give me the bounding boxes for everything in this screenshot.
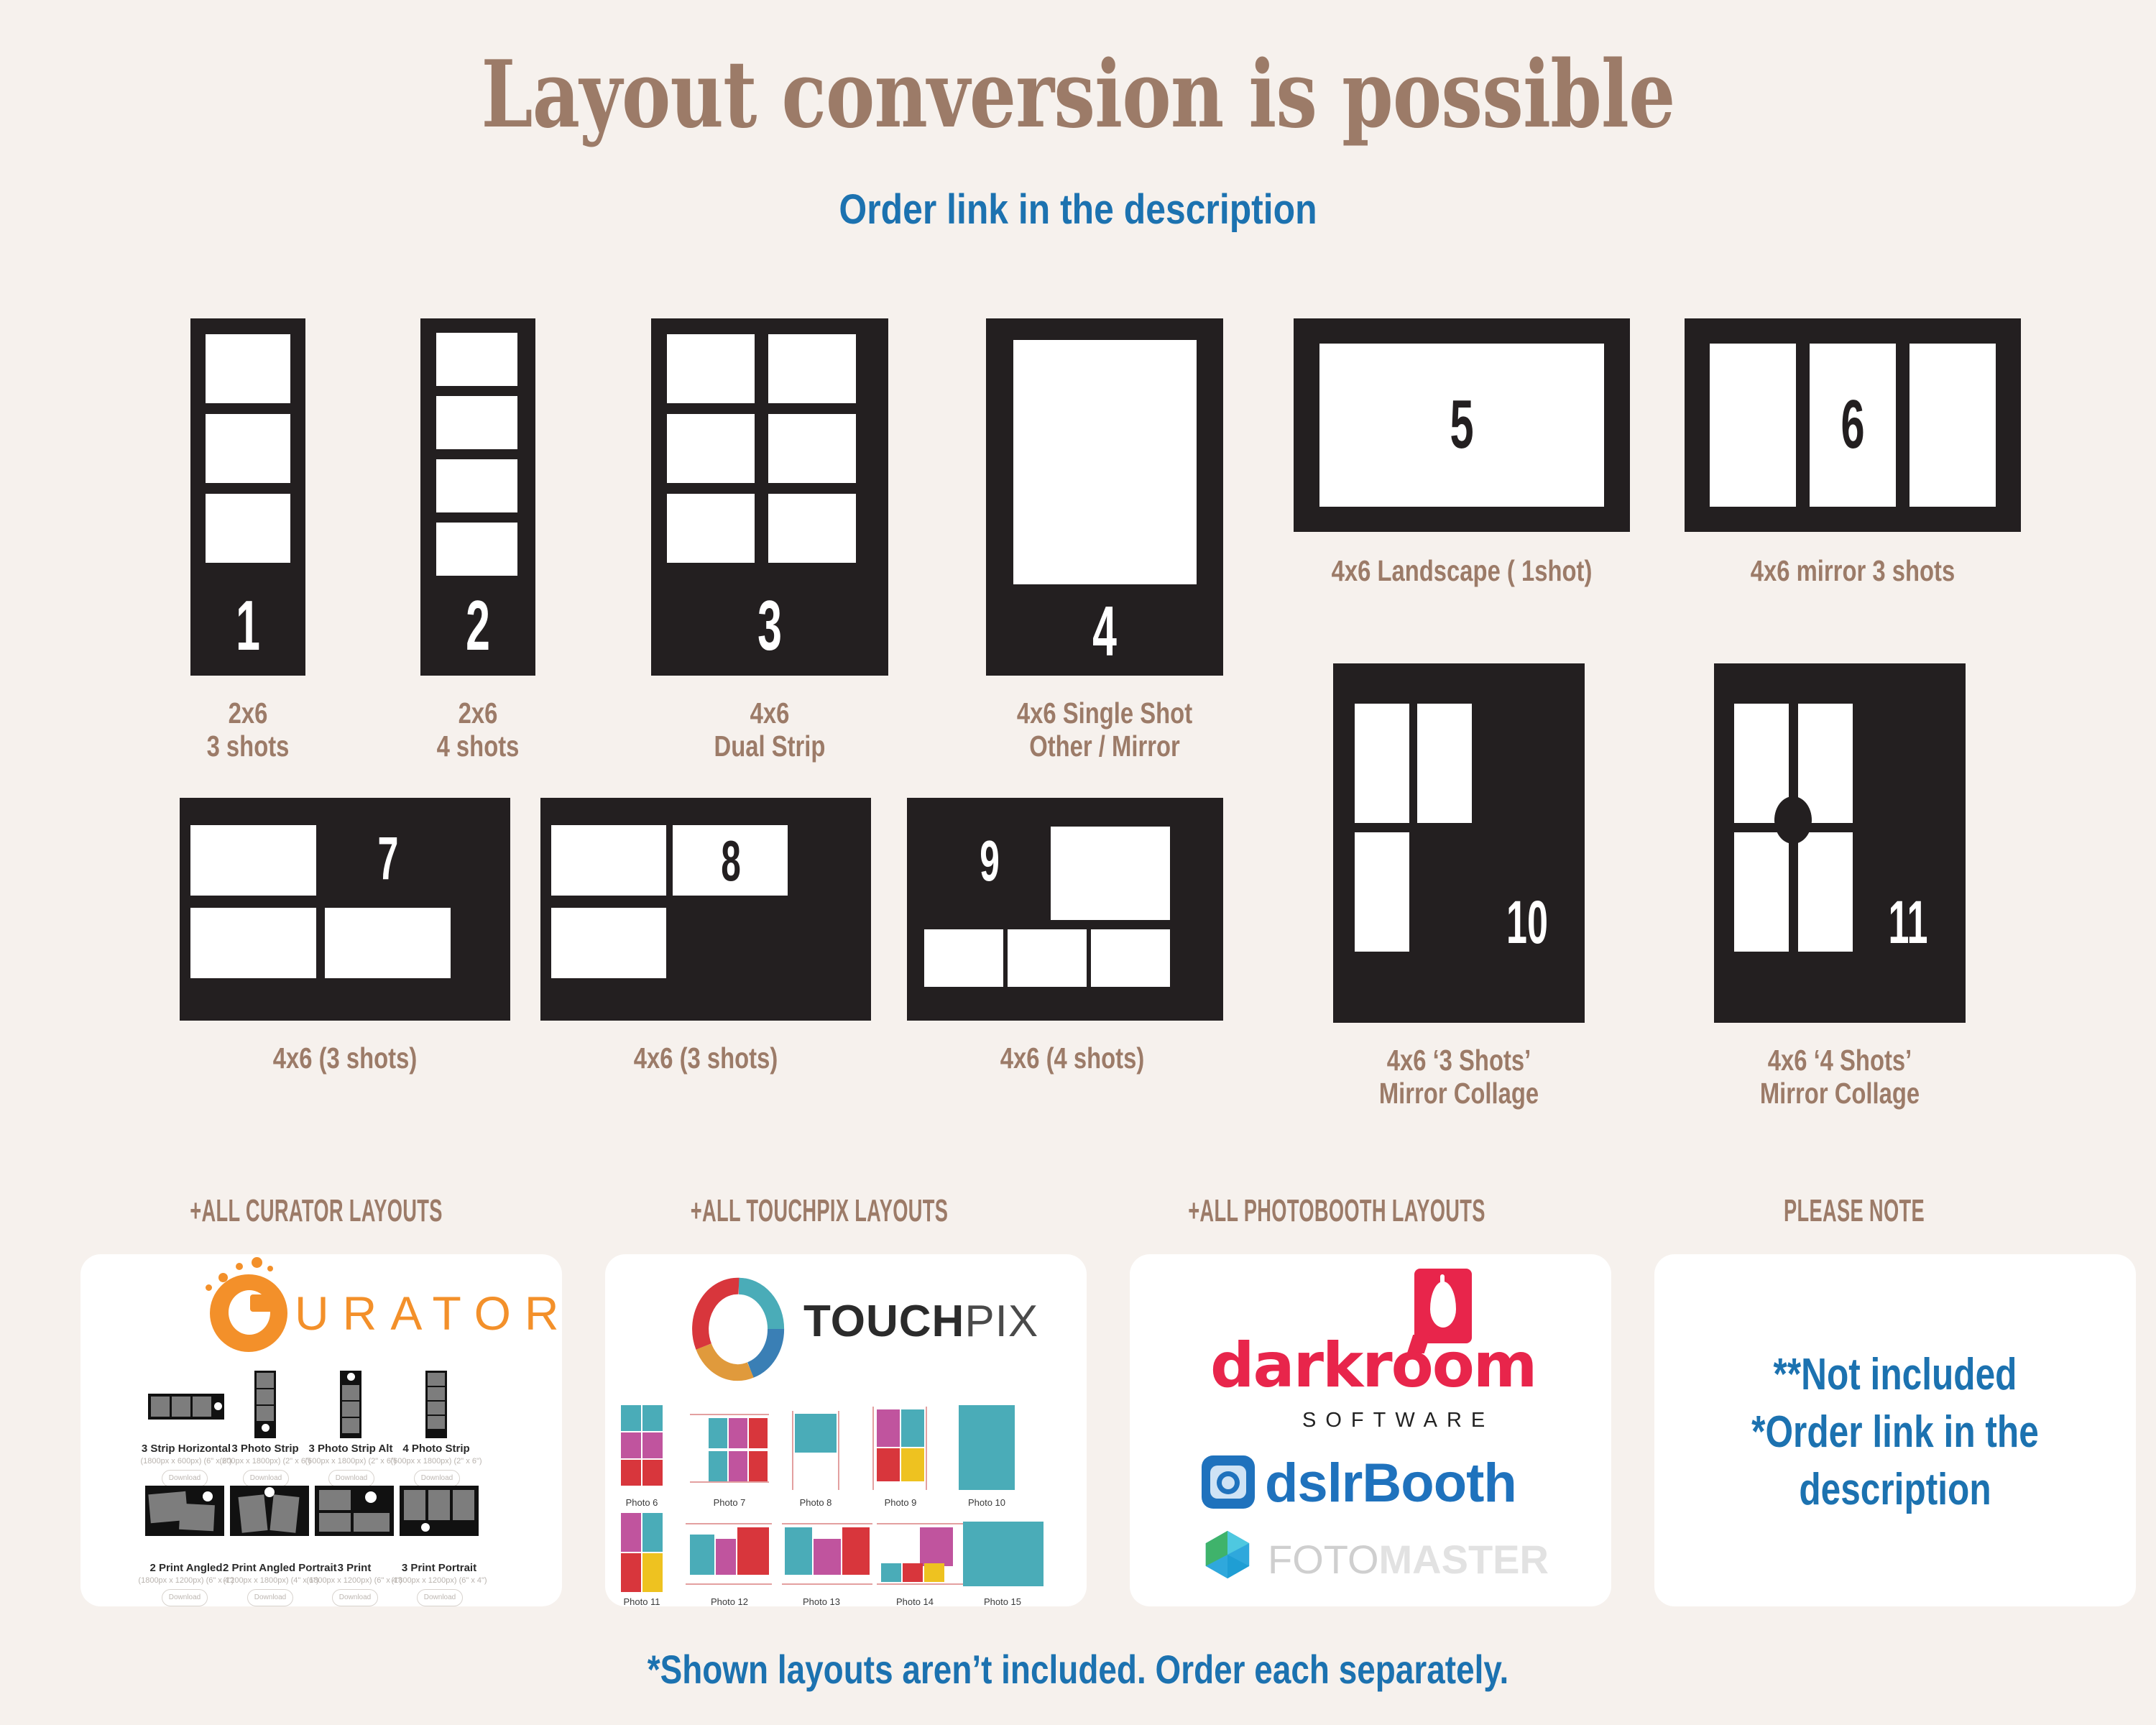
photo-cell: [436, 396, 517, 449]
curator-download-button[interactable]: Download: [332, 1589, 378, 1606]
photo-cell: [667, 494, 755, 563]
touchpix-thumb[interactable]: [872, 1407, 927, 1490]
photo-cell: [190, 825, 316, 896]
photo-cell: [768, 334, 856, 403]
template-number: 6: [1749, 390, 1957, 459]
photo-cell: [1013, 340, 1197, 584]
fotomaster-word-1: FOTO: [1268, 1537, 1379, 1582]
curator-thumb[interactable]: [230, 1486, 309, 1536]
curator-layout-row-1: 3 Strip Horizontal (1800px x 600px) (6" …: [142, 1368, 545, 1476]
curator-thumb-dim: (600px x 1800px) (2" x 6"): [303, 1457, 399, 1466]
touchpix-thumb-label: Photo 13: [789, 1596, 854, 1606]
touchpix-thumb[interactable]: [690, 1414, 769, 1483]
photo-cell: [768, 414, 856, 483]
curator-thumb-label: 4 Photo Strip: [388, 1443, 484, 1455]
curator-thumb[interactable]: [400, 1486, 479, 1536]
touchpix-thumb[interactable]: [959, 1405, 1015, 1490]
touchpix-thumb-label: Photo 11: [609, 1596, 674, 1606]
curator-thumb-dim: (1800px x 1200px) (6" x 4"): [306, 1576, 402, 1585]
template-number: 11: [1872, 892, 1943, 952]
touchpix-thumb[interactable]: [963, 1522, 1044, 1586]
touchpix-thumb[interactable]: [791, 1411, 841, 1490]
template-card-8[interactable]: 8: [540, 798, 871, 1021]
photo-cell: [1734, 832, 1789, 952]
template-card-4[interactable]: 4: [986, 318, 1223, 676]
touchpix-ring-icon: [690, 1274, 788, 1384]
darkroom-wordmark: darkroom: [1210, 1330, 1536, 1402]
curator-download-button[interactable]: Download: [417, 1589, 463, 1606]
photo-cell: [325, 908, 451, 978]
template-number: 1: [212, 590, 283, 661]
curator-download-button[interactable]: Download: [162, 1589, 208, 1606]
section-heading-touchpix: +ALL TOUCHPIX LAYOUTS: [623, 1193, 1015, 1229]
template-card-3[interactable]: 3: [651, 318, 888, 676]
curator-wordmark: URATOR: [295, 1286, 562, 1340]
touchpix-thumb-label: Photo 9: [868, 1497, 933, 1508]
template-caption-10: 4x6 ‘3 Shots’ Mirror Collage: [1344, 1044, 1574, 1110]
curator-thumb[interactable]: [315, 1486, 394, 1536]
curator-logo: URATOR: [210, 1271, 562, 1351]
photobooth-card[interactable]: darkroom SOFTWARE dslrBooth FOTOMASTER: [1130, 1254, 1611, 1606]
template-card-1[interactable]: 1: [190, 318, 305, 676]
touchpix-thumb[interactable]: [619, 1405, 664, 1490]
curator-thumb[interactable]: [145, 1486, 224, 1536]
curator-download-button[interactable]: Download: [247, 1589, 293, 1606]
center-oval-icon: [1774, 796, 1812, 844]
touchpix-thumb-label: Photo 7: [697, 1497, 762, 1508]
curator-thumb-label: 2 Print Angled: [138, 1562, 234, 1574]
template-number: 8: [706, 832, 755, 890]
section-heading-curator: +ALL CURATOR LAYOUTS: [120, 1193, 512, 1229]
touchpix-thumb-label: Photo 10: [954, 1497, 1019, 1508]
photo-cell: [206, 334, 290, 403]
touchpix-word-bold: TOUCH: [803, 1297, 964, 1346]
darkroom-tagline: SOFTWARE: [1302, 1409, 1494, 1432]
touchpix-thumb[interactable]: [877, 1519, 967, 1591]
fotomaster-wordmark: FOTOMASTER: [1268, 1536, 1549, 1583]
template-number: 10: [1491, 892, 1562, 952]
template-card-11[interactable]: 11: [1714, 663, 1966, 1023]
page-title: Layout conversion is possible: [216, 49, 1940, 141]
dslrbooth-word-1: dslr: [1265, 1453, 1362, 1514]
curator-thumb[interactable]: [340, 1371, 361, 1438]
touchpix-thumb[interactable]: [686, 1519, 772, 1591]
photo-cell: [924, 929, 1003, 987]
photo-cell: [436, 523, 517, 576]
template-number: 2: [442, 590, 513, 661]
curator-blob-icon: [210, 1274, 287, 1352]
curator-thumb-dim: (1800px x 1200px) (6" x 4"): [138, 1576, 234, 1585]
dslrbooth-camera-icon: [1202, 1455, 1255, 1509]
photo-cell: [1798, 832, 1853, 952]
touchpix-thumb-label: Photo 12: [697, 1596, 762, 1606]
touchpix-thumb[interactable]: [619, 1513, 664, 1592]
template-card-2[interactable]: 2: [420, 318, 535, 676]
curator-thumb-label: 2 Print Angled Portrait: [223, 1562, 319, 1574]
photo-cell: [667, 414, 755, 483]
touchpix-thumb-label: Photo 14: [883, 1596, 947, 1606]
template-caption-8: 4x6 (3 shots): [591, 1042, 821, 1075]
photo-cell: [551, 825, 666, 896]
note-line-3: description: [1703, 1461, 2088, 1518]
curator-thumb-label: 3 Print: [306, 1562, 402, 1574]
photo-cell: [206, 494, 290, 563]
template-number: 7: [361, 828, 415, 888]
template-caption-9: 4x6 (4 shots): [957, 1042, 1187, 1075]
curator-thumb[interactable]: [148, 1394, 224, 1420]
poster-canvas: Layout conversion is possible Order link…: [0, 0, 2156, 1725]
curator-thumb[interactable]: [425, 1371, 447, 1438]
fotomaster-word-2: MASTER: [1379, 1537, 1549, 1582]
template-card-6[interactable]: 6: [1685, 318, 2021, 532]
curator-thumb-label: 3 Print Portrait: [391, 1562, 487, 1574]
touchpix-thumb-label: Photo 15: [970, 1596, 1035, 1606]
photo-cell: [1355, 832, 1409, 952]
photo-cell: [1355, 704, 1409, 823]
template-number: 3: [696, 590, 844, 661]
photo-cell: [551, 908, 666, 978]
dslrbooth-wordmark: dslrBooth: [1265, 1452, 1516, 1514]
template-caption-3: 4x6 Dual Strip: [655, 697, 885, 763]
photo-cell: [1008, 929, 1087, 987]
fotomaster-shutter-icon: [1202, 1529, 1253, 1581]
template-number: 5: [1358, 390, 1566, 459]
touchpix-thumb-label: Photo 8: [783, 1497, 848, 1508]
curator-thumb-dim: (1800px x 1200px) (6" x 4"): [391, 1576, 487, 1585]
curator-thumb-label: 3 Photo Strip Alt: [303, 1443, 399, 1455]
template-caption-2: 2x6 4 shots: [363, 697, 593, 763]
photo-cell: [1091, 929, 1170, 987]
note-line-2: *Order link in the: [1703, 1404, 2088, 1460]
template-caption-1: 2x6 3 shots: [133, 697, 363, 763]
template-card-5[interactable]: 5: [1294, 318, 1630, 532]
template-card-7[interactable]: 7: [180, 798, 510, 1021]
touchpix-thumb-label: Photo 6: [609, 1497, 674, 1508]
template-card-9[interactable]: 9: [907, 798, 1223, 1021]
template-caption-5: 4x6 Landscape ( 1shot): [1314, 555, 1609, 588]
curator-card[interactable]: URATOR 3 Strip Horizontal (1800px x 600p…: [80, 1254, 562, 1606]
touchpix-thumb[interactable]: [782, 1519, 872, 1591]
template-caption-11: 4x6 ‘4 Shots’ Mirror Collage: [1725, 1044, 1955, 1110]
template-caption-6: 4x6 mirror 3 shots: [1705, 555, 2000, 588]
photo-cell: [667, 334, 755, 403]
section-heading-please-note: PLEASE NOTE: [1658, 1193, 2050, 1229]
curator-thumb-dim: (1200px x 1800px) (4" x 6"): [223, 1576, 319, 1585]
photo-cell: [190, 908, 316, 978]
photo-cell: [1051, 827, 1170, 920]
curator-thumb-label: 3 Photo Strip: [217, 1443, 313, 1455]
touchpix-card[interactable]: TOUCHPIX Photo 6 Photo 7 P: [605, 1254, 1087, 1606]
curator-thumb[interactable]: [254, 1371, 276, 1438]
curator-thumb-dim: (600px x 1800px) (2" x 6"): [217, 1457, 313, 1466]
template-number: 4: [1031, 596, 1179, 666]
dslrbooth-word-2: Booth: [1362, 1453, 1516, 1514]
template-number: 9: [965, 832, 1014, 890]
please-note-card: **Not included *Order link in the descri…: [1654, 1254, 2136, 1606]
template-caption-7: 4x6 (3 shots): [230, 1042, 460, 1075]
footer-note: *Shown layouts aren’t included. Order ea…: [194, 1646, 1962, 1693]
curator-thumb-dim: (600px x 1800px) (2" x 6"): [388, 1457, 484, 1466]
photo-cell: [768, 494, 856, 563]
touchpix-wordmark: TOUCHPIX: [803, 1296, 1038, 1347]
template-caption-4: 4x6 Single Shot Other / Mirror: [990, 697, 1220, 763]
photo-cell: [436, 459, 517, 512]
note-line-1: **Not included: [1703, 1346, 2088, 1403]
template-card-10[interactable]: 10: [1333, 663, 1585, 1023]
photo-cell: [1417, 704, 1472, 823]
page-subtitle: Order link in the description: [151, 185, 2005, 234]
section-heading-photobooth: +ALL PHOTOBOOTH LAYOUTS: [1141, 1193, 1533, 1229]
curator-layout-row-2: 2 Print Angled (1800px x 1200px) (6" x 4…: [142, 1483, 545, 1598]
photo-cell: [206, 414, 290, 483]
photo-cell: [436, 333, 517, 386]
touchpix-word-light: PIX: [964, 1297, 1038, 1346]
